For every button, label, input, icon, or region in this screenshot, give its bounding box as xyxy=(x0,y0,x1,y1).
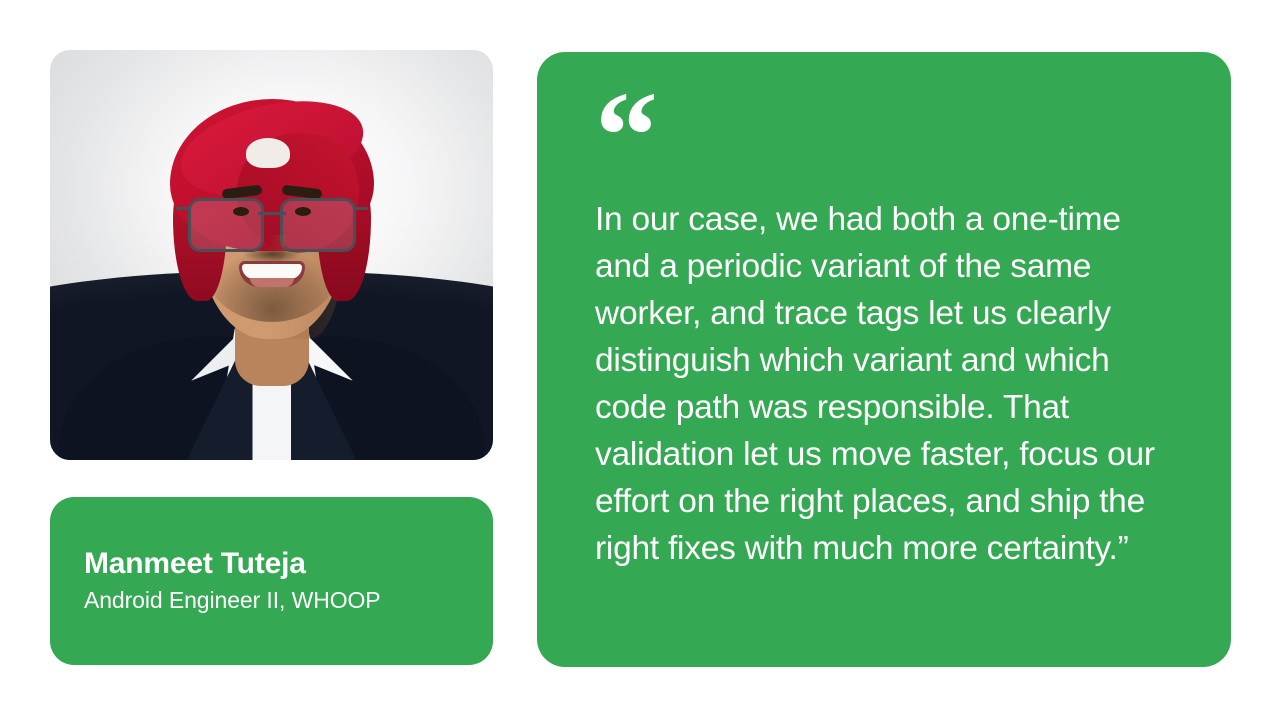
lower-lip xyxy=(250,278,294,287)
glasses-temple-right xyxy=(354,207,368,210)
attribution-card: Manmeet Tuteja Android Engineer II, WHOO… xyxy=(50,497,493,665)
portrait-column xyxy=(50,50,493,460)
glasses-lens-left xyxy=(188,198,264,252)
eye-right xyxy=(295,207,311,216)
glasses-lens-right xyxy=(280,198,356,252)
quote-text: In our case, we had both a one-time and … xyxy=(595,196,1175,572)
turban-knot xyxy=(246,138,290,168)
open-quote-icon: “ xyxy=(595,88,1175,184)
person-role: Android Engineer II, WHOOP xyxy=(84,587,459,615)
glasses-bridge xyxy=(258,212,286,215)
portrait-illustration xyxy=(50,50,493,460)
person-name: Manmeet Tuteja xyxy=(84,547,459,582)
glasses-temple-left xyxy=(176,207,190,210)
testimonial-card: Manmeet Tuteja Android Engineer II, WHOO… xyxy=(0,0,1280,720)
eye-left xyxy=(233,207,249,216)
portrait-photo xyxy=(50,50,493,460)
quote-card: “ In our case, we had both a one-time an… xyxy=(537,52,1231,667)
teeth xyxy=(242,264,302,279)
